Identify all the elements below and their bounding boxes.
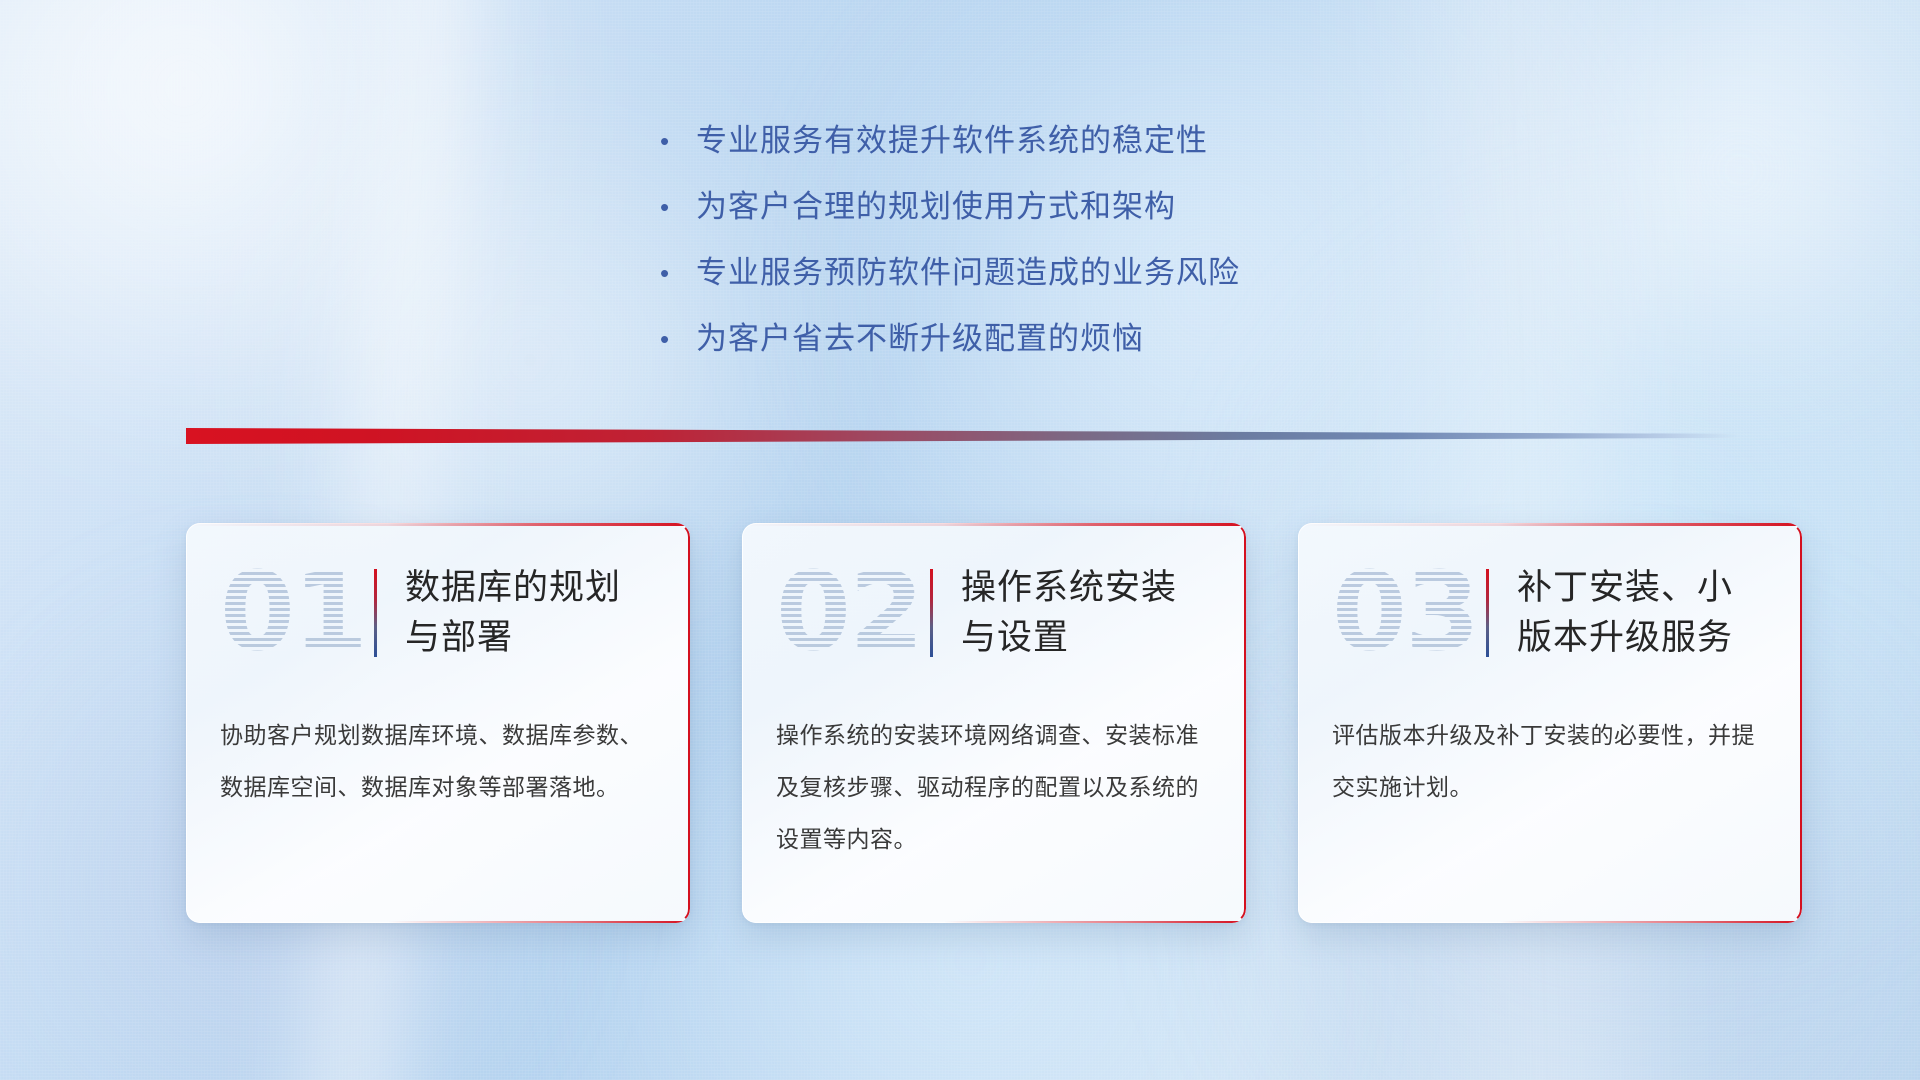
card-accent-top (742, 523, 1246, 526)
service-card[interactable]: 01 数据库的规划与部署 协助客户规划数据库环境、数据库参数、数据库空间、数据库… (186, 523, 690, 923)
card-title: 数据库的规划与部署 (405, 563, 655, 663)
card-header: 01 数据库的规划与部署 (186, 553, 690, 673)
card-title: 操作系统安装与设置 (961, 563, 1211, 663)
card-body-text: 操作系统的安装环境网络调查、安装标准及复核步骤、驱动程序的配置以及系统的设置等内… (776, 709, 1216, 865)
service-cards: 01 数据库的规划与部署 协助客户规划数据库环境、数据库参数、数据库空间、数据库… (0, 523, 1920, 933)
card-accent-bottom (944, 921, 1246, 924)
list-item-label: 专业服务预防软件问题造成的业务风险 (696, 240, 1240, 306)
divider-wedge (186, 428, 1738, 444)
card-number-watermark: 02 (774, 555, 924, 671)
bullet-dot-icon: • (660, 174, 696, 240)
card-divider-bar (374, 569, 377, 657)
list-item: • 为客户省去不断升级配置的烦恼 (660, 306, 1560, 372)
card-title: 补丁安装、小版本升级服务 (1517, 563, 1767, 663)
card-divider-bar (1486, 569, 1489, 657)
list-item: • 专业服务有效提升软件系统的稳定性 (660, 108, 1560, 174)
card-accent-bottom (1500, 921, 1802, 924)
list-item-label: 专业服务有效提升软件系统的稳定性 (696, 108, 1208, 174)
bullet-dot-icon: • (660, 306, 696, 372)
list-item-label: 为客户省去不断升级配置的烦恼 (696, 306, 1144, 372)
card-accent-top (1298, 523, 1802, 526)
list-item-label: 为客户合理的规划使用方式和架构 (696, 174, 1176, 240)
card-body-text: 协助客户规划数据库环境、数据库参数、数据库空间、数据库对象等部署落地。 (220, 709, 660, 813)
card-accent-top (186, 523, 690, 526)
benefits-bullet-list: • 专业服务有效提升软件系统的稳定性 • 为客户合理的规划使用方式和架构 • 专… (660, 108, 1560, 372)
list-item: • 专业服务预防软件问题造成的业务风险 (660, 240, 1560, 306)
card-divider-bar (930, 569, 933, 657)
card-number-watermark: 01 (218, 555, 368, 671)
card-number-watermark: 03 (1330, 555, 1480, 671)
card-header: 03 补丁安装、小版本升级服务 (1298, 553, 1802, 673)
section-divider (186, 428, 1738, 444)
list-item: • 为客户合理的规划使用方式和架构 (660, 174, 1560, 240)
card-accent-bottom (388, 921, 690, 924)
card-header: 02 操作系统安装与设置 (742, 553, 1246, 673)
bullet-dot-icon: • (660, 240, 696, 306)
service-card[interactable]: 02 操作系统安装与设置 操作系统的安装环境网络调查、安装标准及复核步骤、驱动程… (742, 523, 1246, 923)
service-card[interactable]: 03 补丁安装、小版本升级服务 评估版本升级及补丁安装的必要性，并提交实施计划。 (1298, 523, 1802, 923)
bullet-dot-icon: • (660, 108, 696, 174)
card-body-text: 评估版本升级及补丁安装的必要性，并提交实施计划。 (1332, 709, 1772, 813)
